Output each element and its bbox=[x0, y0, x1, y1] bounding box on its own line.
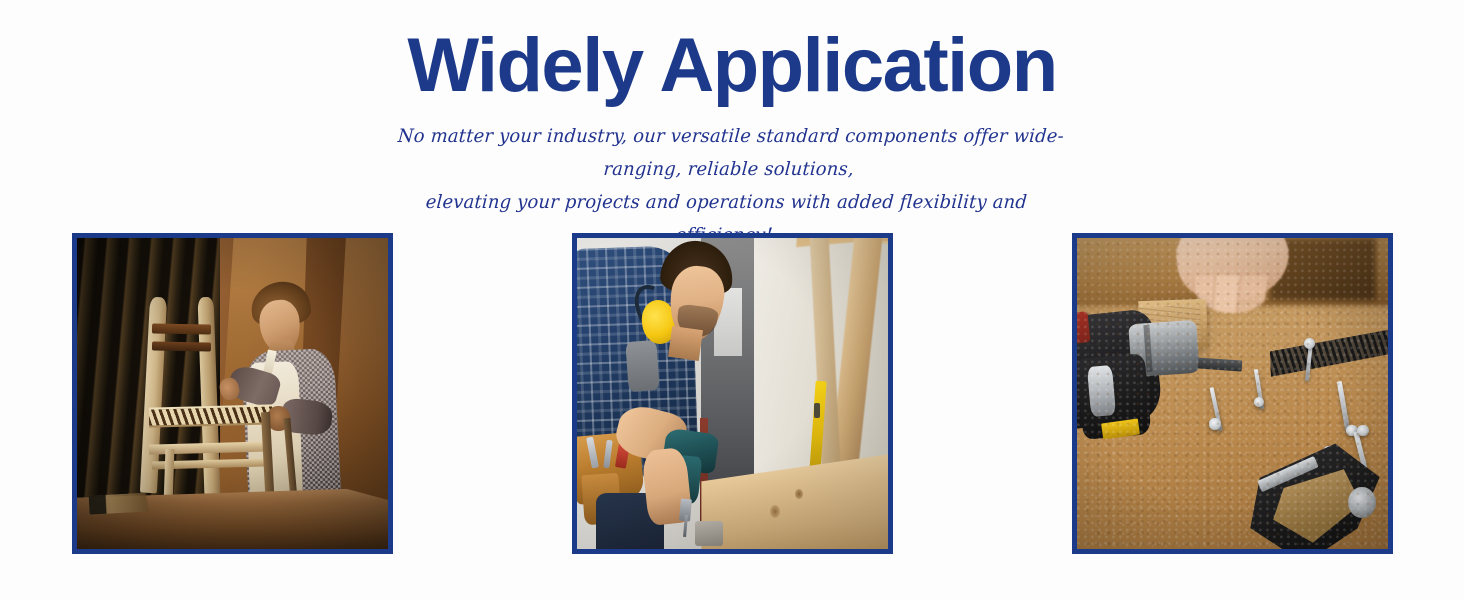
gallery-item-carpenter-drill[interactable] bbox=[572, 233, 893, 554]
section-heading-block: Widely Application No matter your indust… bbox=[0, 0, 1464, 252]
photo-vignette bbox=[1077, 238, 1388, 549]
section-subtitle: No matter your industry, our versatile s… bbox=[384, 120, 1072, 252]
page-title: Widely Application bbox=[0, 26, 1464, 106]
photo-screws-sawdust bbox=[1077, 238, 1388, 549]
gallery-item-workshop-chair[interactable] bbox=[72, 233, 393, 554]
gallery-item-screws-sawdust[interactable] bbox=[1072, 233, 1393, 554]
subtitle-line-1: No matter your industry, our versatile s… bbox=[388, 120, 1071, 186]
photo-vignette bbox=[77, 238, 388, 549]
photo-carpenter-drill bbox=[577, 238, 888, 549]
application-image-gallery bbox=[72, 233, 1393, 554]
widely-application-section: Widely Application No matter your indust… bbox=[0, 0, 1464, 600]
photo-vignette bbox=[577, 238, 888, 549]
photo-workshop-chair bbox=[77, 238, 388, 549]
